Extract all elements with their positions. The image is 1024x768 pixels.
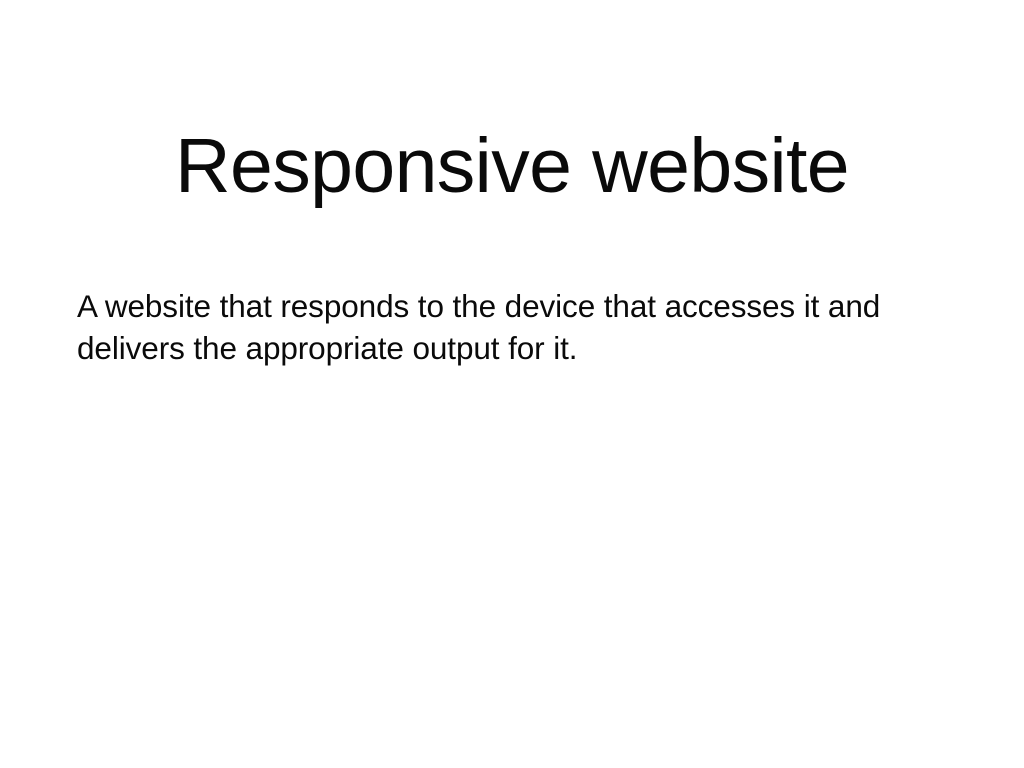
slide-body-text: A website that responds to the device th… — [77, 285, 947, 369]
presentation-slide: Responsive website A website that respon… — [0, 0, 1024, 768]
slide-empty-content-area — [0, 360, 1024, 768]
slide-title: Responsive website — [0, 128, 1024, 205]
